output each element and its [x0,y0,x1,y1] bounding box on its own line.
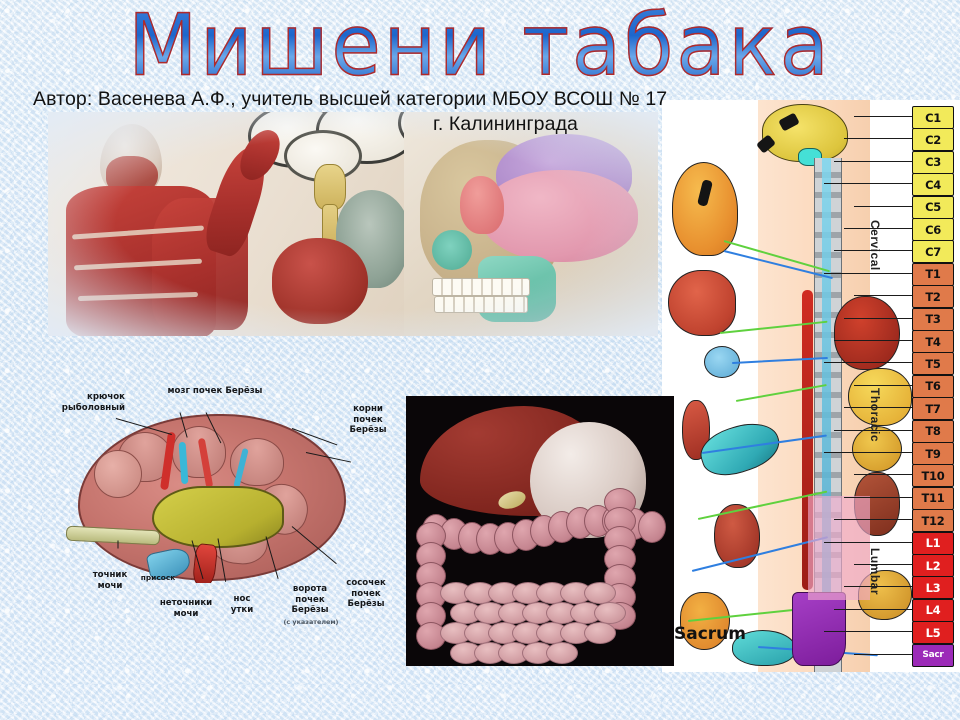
vertebra-label-c2: C2 [912,128,954,151]
vertebra-label-sacr: Sacr [912,644,954,667]
vertebra-label-t7: T7 [912,397,954,420]
vertebra-leader-l5 [824,631,912,632]
kidney-label-papilla: сосочек почек Берёзы [338,578,394,610]
vertebra-leader-t10 [854,474,912,475]
vertebra-leader-t5 [824,362,912,363]
vertebra-label-c7: C7 [912,240,954,263]
vertebra-leader-c4 [824,183,912,184]
vertebra-label-t12: T12 [912,509,954,532]
vertebra-label-t11: T11 [912,487,954,510]
vertebra-leader-l4 [834,609,912,610]
vertebra-leader-l1 [824,542,912,543]
vertebra-leader-c2 [844,138,912,139]
vertebra-label-c3: C3 [912,151,954,174]
vertebra-leader-t4 [834,340,912,341]
vertebra-label-c4: C4 [912,173,954,196]
vertebra-leader-t7 [844,407,912,408]
vertebra-label-t8: T8 [912,420,954,443]
image-muscular-system [48,112,658,336]
vertebra-leader-sacr [854,654,912,655]
kidney-label-hilum-sub: (с указателем) [276,617,346,628]
vertebra-label-l1: L1 [912,532,954,555]
kidney-label-vessel: присоск [136,573,180,584]
vertebra-label-t2: T2 [912,285,954,308]
kidney-label-hilum: ворота почек Берёзы [282,584,338,616]
kidney-label-ureter: точник мочи [84,570,136,591]
vertebra-leader-c7 [834,250,912,251]
kidney-label-medulla: мозг почек Берёзы [160,386,270,397]
vertebra-label-t4: T4 [912,330,954,353]
vertebra-label-l3: L3 [912,576,954,599]
colon-segment [638,511,666,543]
vertebra-leader-t1 [824,273,912,274]
vertebra-label-t1: T1 [912,263,954,286]
vertebra-leader-t2 [854,295,912,296]
page-title: Мишени табака [128,1,832,90]
vertebra-leader-l3 [844,586,912,587]
vertebra-leader-t9 [824,452,912,453]
vertebra-leader-t8 [834,430,912,431]
vertebra-label-t6: T6 [912,375,954,398]
kidney-label-collectors: неточники мочи [150,598,222,619]
vertebra-leader-t12 [834,519,912,520]
vertebra-leader-t11 [844,497,912,498]
vertebra-label-l5: L5 [912,621,954,644]
vertebra-label-l2: L2 [912,554,954,577]
small-intestine-loop [584,622,616,644]
image-spinal-innervation: Cervical Thoracic Lumbar C1C2C3C4C5C6C7T… [662,100,960,672]
kidney-label-hook: крючок рыболовный [57,392,125,413]
image-digestive-organs [406,396,674,666]
vertebra-label-t5: T5 [912,352,954,375]
vertebra-leader-l2 [854,564,912,565]
image-kidney-diagram [60,408,360,583]
vertebra-leader-c1 [854,116,912,117]
small-intestine-loop [584,582,616,604]
author-line-2: г. Калининграда [433,113,578,136]
vertebra-label-t3: T3 [912,308,954,331]
sacrum-label: Sacrum [674,624,746,644]
vertebra-leader-t3 [844,318,912,319]
vertebra-label-l4: L4 [912,599,954,622]
vertebra-label-t9: T9 [912,442,954,465]
spine-region-lumbar: Lumbar [868,548,882,595]
vertebra-leader-t6 [854,385,912,386]
author-line-1: Автор: Васенева А.Ф., учитель высшей кат… [33,88,667,111]
vertebra-label-c5: C5 [912,196,954,219]
page-title-wrap: Мишени табака [0,4,960,88]
vertebra-label-c1: C1 [912,106,954,129]
small-intestine-loop [594,602,626,624]
kidney-label-cortex: корни почек Берёзы [338,404,398,436]
vertebra-leader-c6 [844,228,912,229]
small-intestine-loop [546,642,578,664]
vertebra-label-t10: T10 [912,464,954,487]
spine-region-thoracic: Thoracic [868,388,882,442]
kidney-label-duckbill: нос утки [226,594,258,615]
vertebra-leader-c5 [854,206,912,207]
vertebra-leader-c3 [834,161,912,162]
vertebra-label-c6: C6 [912,218,954,241]
